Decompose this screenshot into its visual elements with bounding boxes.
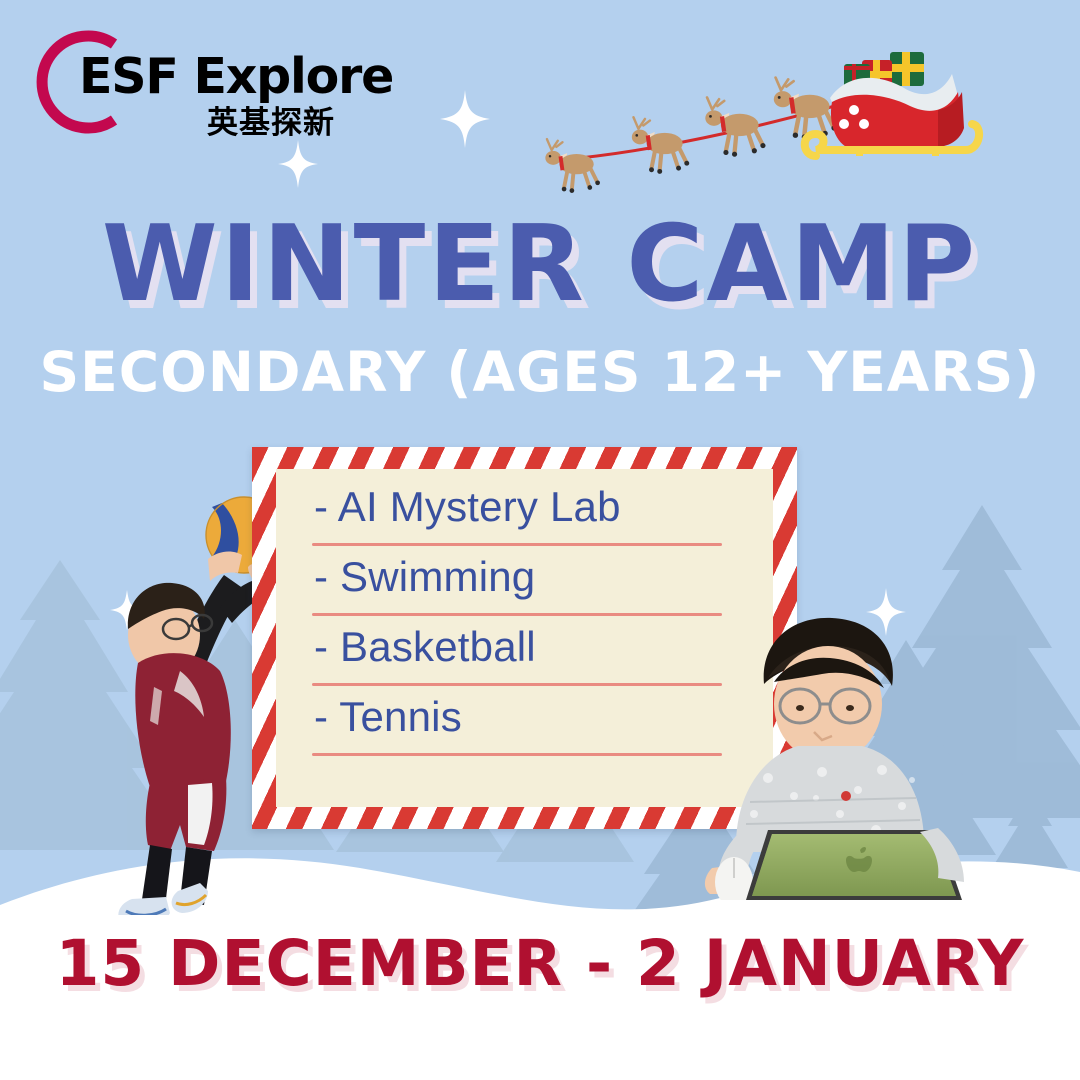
logo-chinese-name: 英基探新 — [207, 108, 335, 139]
activity-divider — [312, 683, 722, 686]
winter-camp-poster: ESF Explore 英基探新 — [0, 0, 1080, 1080]
list-item[interactable]: - AI Mystery Lab — [314, 481, 769, 551]
camp-dates: 15 DECEMBER - 2 JANUARY — [0, 932, 1080, 995]
reindeer-icon — [545, 78, 836, 193]
activity-divider — [312, 753, 722, 756]
sleigh-icon — [805, 52, 979, 156]
esf-explore-logo: ESF Explore 英基探新 — [22, 26, 352, 148]
sleigh-with-reindeer-illustration — [520, 18, 1060, 198]
activity-label: - AI Mystery Lab — [314, 481, 769, 533]
laptop-student-photo — [676, 600, 1006, 900]
page-title: WINTER CAMP — [0, 212, 1080, 317]
activity-divider — [312, 543, 722, 546]
page-subtitle: SECONDARY (AGES 12+ YEARS) — [0, 345, 1080, 400]
logo-wordmark: ESF Explore — [79, 52, 393, 101]
activity-label: - Swimming — [314, 551, 769, 603]
sparkle-star-icon — [440, 90, 490, 148]
activity-divider — [312, 613, 722, 616]
